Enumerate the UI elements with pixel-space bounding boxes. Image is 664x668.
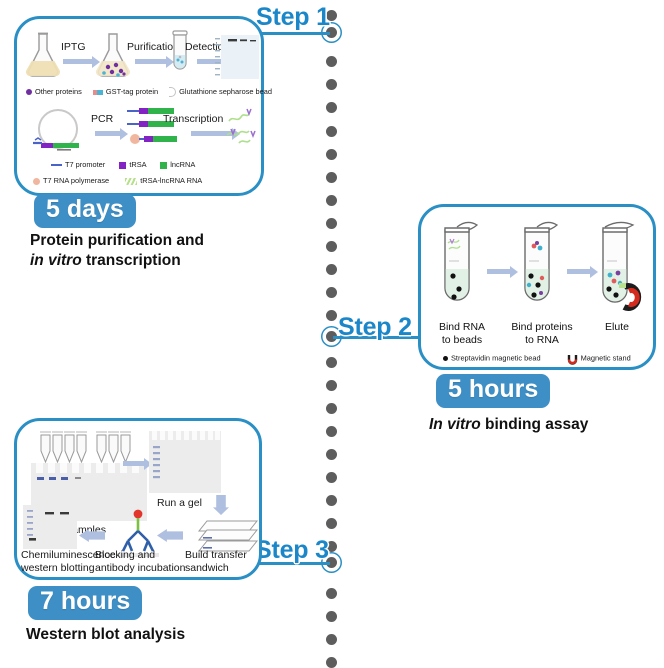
timeline-dot	[326, 611, 337, 622]
transcription-label: Transcription	[163, 113, 223, 126]
step-1-panel: IPTG Purification Detection	[14, 16, 264, 196]
tube-3-label-line1: Elute	[589, 321, 645, 334]
timeline-dot	[326, 357, 337, 368]
tube-bind-rna-icon	[435, 221, 479, 321]
timeline-dot	[326, 495, 337, 506]
timeline-dot	[326, 241, 337, 252]
sepharose-bead-label: Glutathione sepharose bead	[179, 87, 272, 96]
step-2-panel: Bind RNA to beads Bind proteins to RNA E…	[418, 204, 656, 370]
chemi-line1: Chemiluminescence	[21, 549, 116, 562]
step1-connector	[262, 32, 330, 35]
gst-tag-swatch	[93, 90, 103, 95]
t7-polymerase-swatch	[33, 178, 40, 185]
chemi-line2: western blotting	[21, 562, 116, 575]
build-transfer-label: Build transfer sandwich	[185, 549, 247, 574]
tube-2-label: Bind proteins to RNA	[503, 321, 581, 347]
step3-arrow-1	[123, 461, 145, 466]
chemiluminescence-blot-image	[23, 505, 77, 549]
tube-1-label-line1: Bind RNA	[427, 321, 497, 334]
step2-legend: Streptavidin magnetic bead Magnetic stan…	[443, 353, 631, 364]
build-transfer-line1: Build transfer	[185, 549, 247, 562]
trsa-lncrna-rna-swatch	[125, 178, 137, 185]
purification-tube-icon	[169, 29, 191, 79]
build-transfer-line2: sandwich	[185, 562, 247, 575]
step-1-caption-italic: in vitro	[30, 252, 82, 269]
plasmid-icon	[27, 107, 89, 153]
timeline-dot	[326, 195, 337, 206]
timeline-dot	[326, 426, 337, 437]
timeline-dot	[326, 588, 337, 599]
pipet-tips-icon	[39, 429, 131, 465]
pcr-label: PCR	[91, 113, 113, 126]
step2-arrow-2	[567, 269, 591, 274]
tube-3-label: Elute	[589, 321, 645, 334]
timeline-dot	[326, 79, 337, 90]
step-2-caption-suffix: binding assay	[481, 416, 589, 433]
step-3-caption: Western blot analysis	[26, 625, 185, 645]
figure-canvas: Step 1 IPTG Purification	[0, 0, 664, 664]
streptavidin-bead-label: Streptavidin magnetic bead	[451, 353, 541, 362]
timeline-dot	[326, 218, 337, 229]
iptg-arrow	[63, 59, 93, 64]
step-1-caption-line2: in vitro transcription	[30, 251, 204, 271]
step3-arrow-2	[213, 495, 229, 515]
step-1-caption-suffix: transcription	[82, 252, 181, 269]
timeline-dot	[326, 472, 337, 483]
trsa-label: tRSA	[129, 160, 146, 169]
tube-1-label: Bind RNA to beads	[427, 321, 497, 347]
streptavidin-bead-swatch	[443, 356, 448, 361]
chemiluminescence-label: Chemiluminescence western blotting	[21, 549, 116, 574]
magnetic-stand-label: Magnetic stand	[581, 353, 631, 362]
step1-legend-row2-b: T7 RNA polymerase tRSA-lncRNA RNA	[33, 176, 202, 185]
timeline-dot	[326, 172, 337, 183]
timeline-dot	[326, 380, 337, 391]
lncrna-label: lncRNA	[170, 160, 195, 169]
timeline-dot	[326, 449, 337, 460]
step1-legend-row1: Other proteins GST-tag protein Glutathio…	[26, 87, 272, 97]
iptg-label: IPTG	[61, 41, 86, 54]
timeline-dot	[326, 518, 337, 529]
western-gel-image	[215, 35, 259, 79]
tube-elute-icon	[593, 217, 649, 321]
t7-promoter-label: T7 promoter	[65, 160, 105, 169]
trsa-swatch	[119, 162, 126, 169]
timeline-dot	[326, 634, 337, 645]
timeline-dot	[326, 403, 337, 414]
step-3-panel: Pipet samples Run a gel	[14, 418, 262, 580]
step-3-duration-badge: 7 hours	[28, 586, 142, 620]
gst-tag-label: GST-tag protein	[106, 87, 158, 96]
step-2-caption: In vitro binding assay	[429, 415, 588, 435]
sepharose-bead-swatch	[169, 87, 176, 97]
step-1-caption-line1: Protein purification and	[30, 231, 204, 251]
other-proteins-label: Other proteins	[35, 87, 82, 96]
timeline-dot	[326, 56, 337, 67]
tube-2-label-line2: to RNA	[503, 334, 581, 347]
step1-legend-row2-a: T7 promoter tRSA lncRNA	[51, 160, 195, 169]
timeline-dot	[326, 310, 337, 321]
tube-1-label-line2: to beads	[427, 334, 497, 347]
timeline-dot	[326, 264, 337, 275]
step-1-duration-badge: 5 days	[34, 194, 136, 228]
timeline-dot	[326, 149, 337, 160]
other-proteins-swatch	[26, 89, 32, 95]
tube-2-label-line1: Bind proteins	[503, 321, 581, 334]
pcr-arrow	[95, 131, 121, 136]
induced-culture-flask-icon	[95, 31, 131, 77]
lncrna-swatch	[160, 162, 167, 169]
t7-promoter-swatch	[51, 164, 62, 166]
step-1-marker: Step 1	[256, 3, 330, 32]
bacterial-culture-flask-icon	[25, 31, 61, 77]
run-gel-image	[149, 431, 221, 493]
timeline-dot	[326, 287, 337, 298]
step-2-marker: Step 2	[338, 313, 412, 342]
t7-polymerase-label: T7 RNA polymerase	[43, 176, 109, 185]
magnetic-stand-icon	[567, 354, 578, 365]
step-2-caption-italic: In vitro	[429, 416, 481, 433]
step2-arrow-1	[487, 269, 511, 274]
purification-arrow	[135, 59, 167, 64]
trsa-lncrna-rna-label: tRSA-lncRNA RNA	[140, 176, 202, 185]
tube-bind-proteins-icon	[515, 221, 559, 321]
timeline-dot	[326, 657, 337, 668]
timeline-dot	[326, 102, 337, 113]
timeline-dot	[326, 126, 337, 137]
run-a-gel-label: Run a gel	[157, 497, 202, 510]
step-2-duration-badge: 5 hours	[436, 374, 550, 408]
rna-transcripts-icon	[225, 105, 265, 149]
step-1-caption: Protein purification and in vitro transc…	[30, 231, 204, 271]
